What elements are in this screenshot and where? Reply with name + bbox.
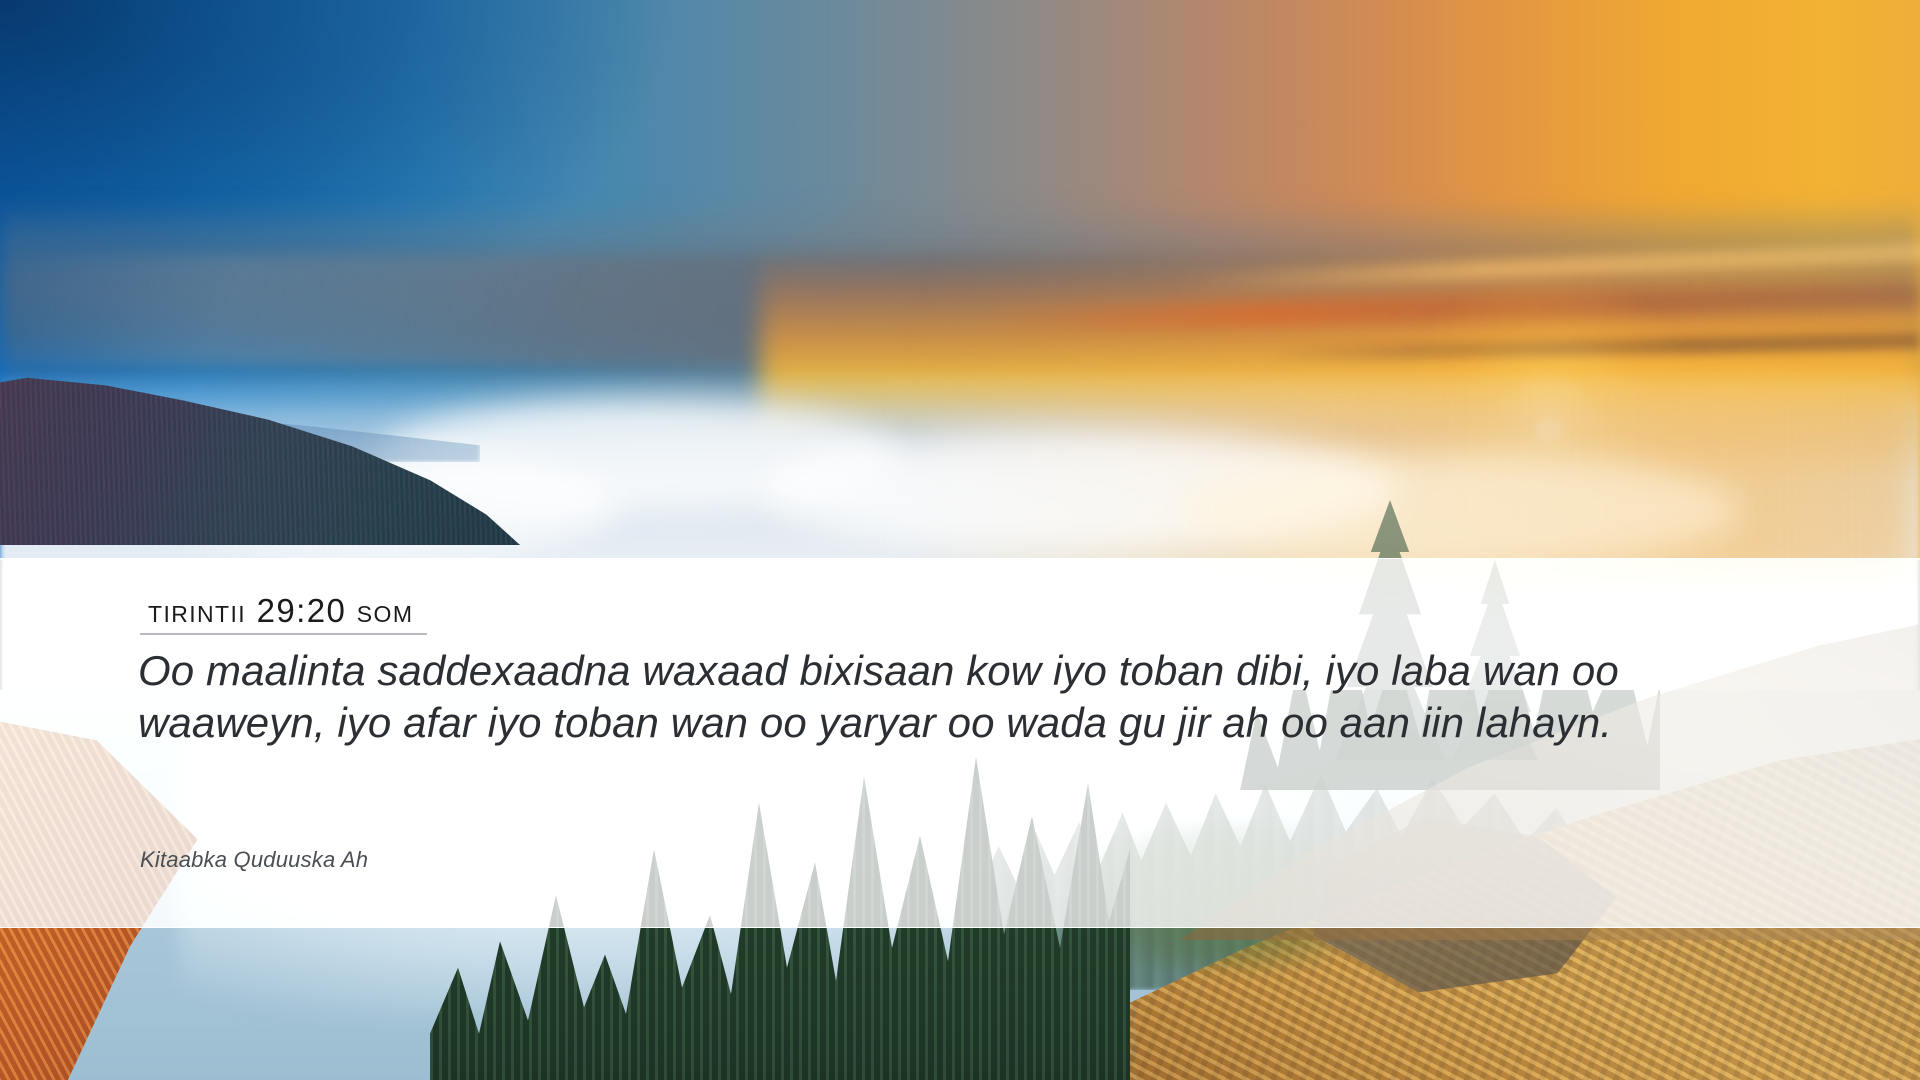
verse-text: Oo maalinta saddexaadna waxaad bixisaan … — [138, 645, 1798, 748]
verse-reference: Tirintii 29:20 SOM — [148, 592, 413, 629]
verse-reference-box: Tirintii 29:20 SOM — [140, 591, 427, 635]
verse-line-1: Oo maalinta saddexaadna waxaad bixisaan … — [138, 647, 1379, 694]
verse-attribution: Kitaabka Quduuska Ah — [140, 847, 368, 873]
cloud-puff-4 — [1180, 455, 1740, 565]
verse-reference-wrapper: Tirintii 29:20 SOM — [140, 591, 427, 635]
verse-overlay-panel: Tirintii 29:20 SOM Oo maalinta saddexaad… — [0, 558, 1920, 928]
scripture-image-card: Tirintii 29:20 SOM Oo maalinta saddexaad… — [0, 0, 1920, 1080]
verse-line-3: jir ah oo aan iin lahayn. — [1178, 699, 1612, 746]
